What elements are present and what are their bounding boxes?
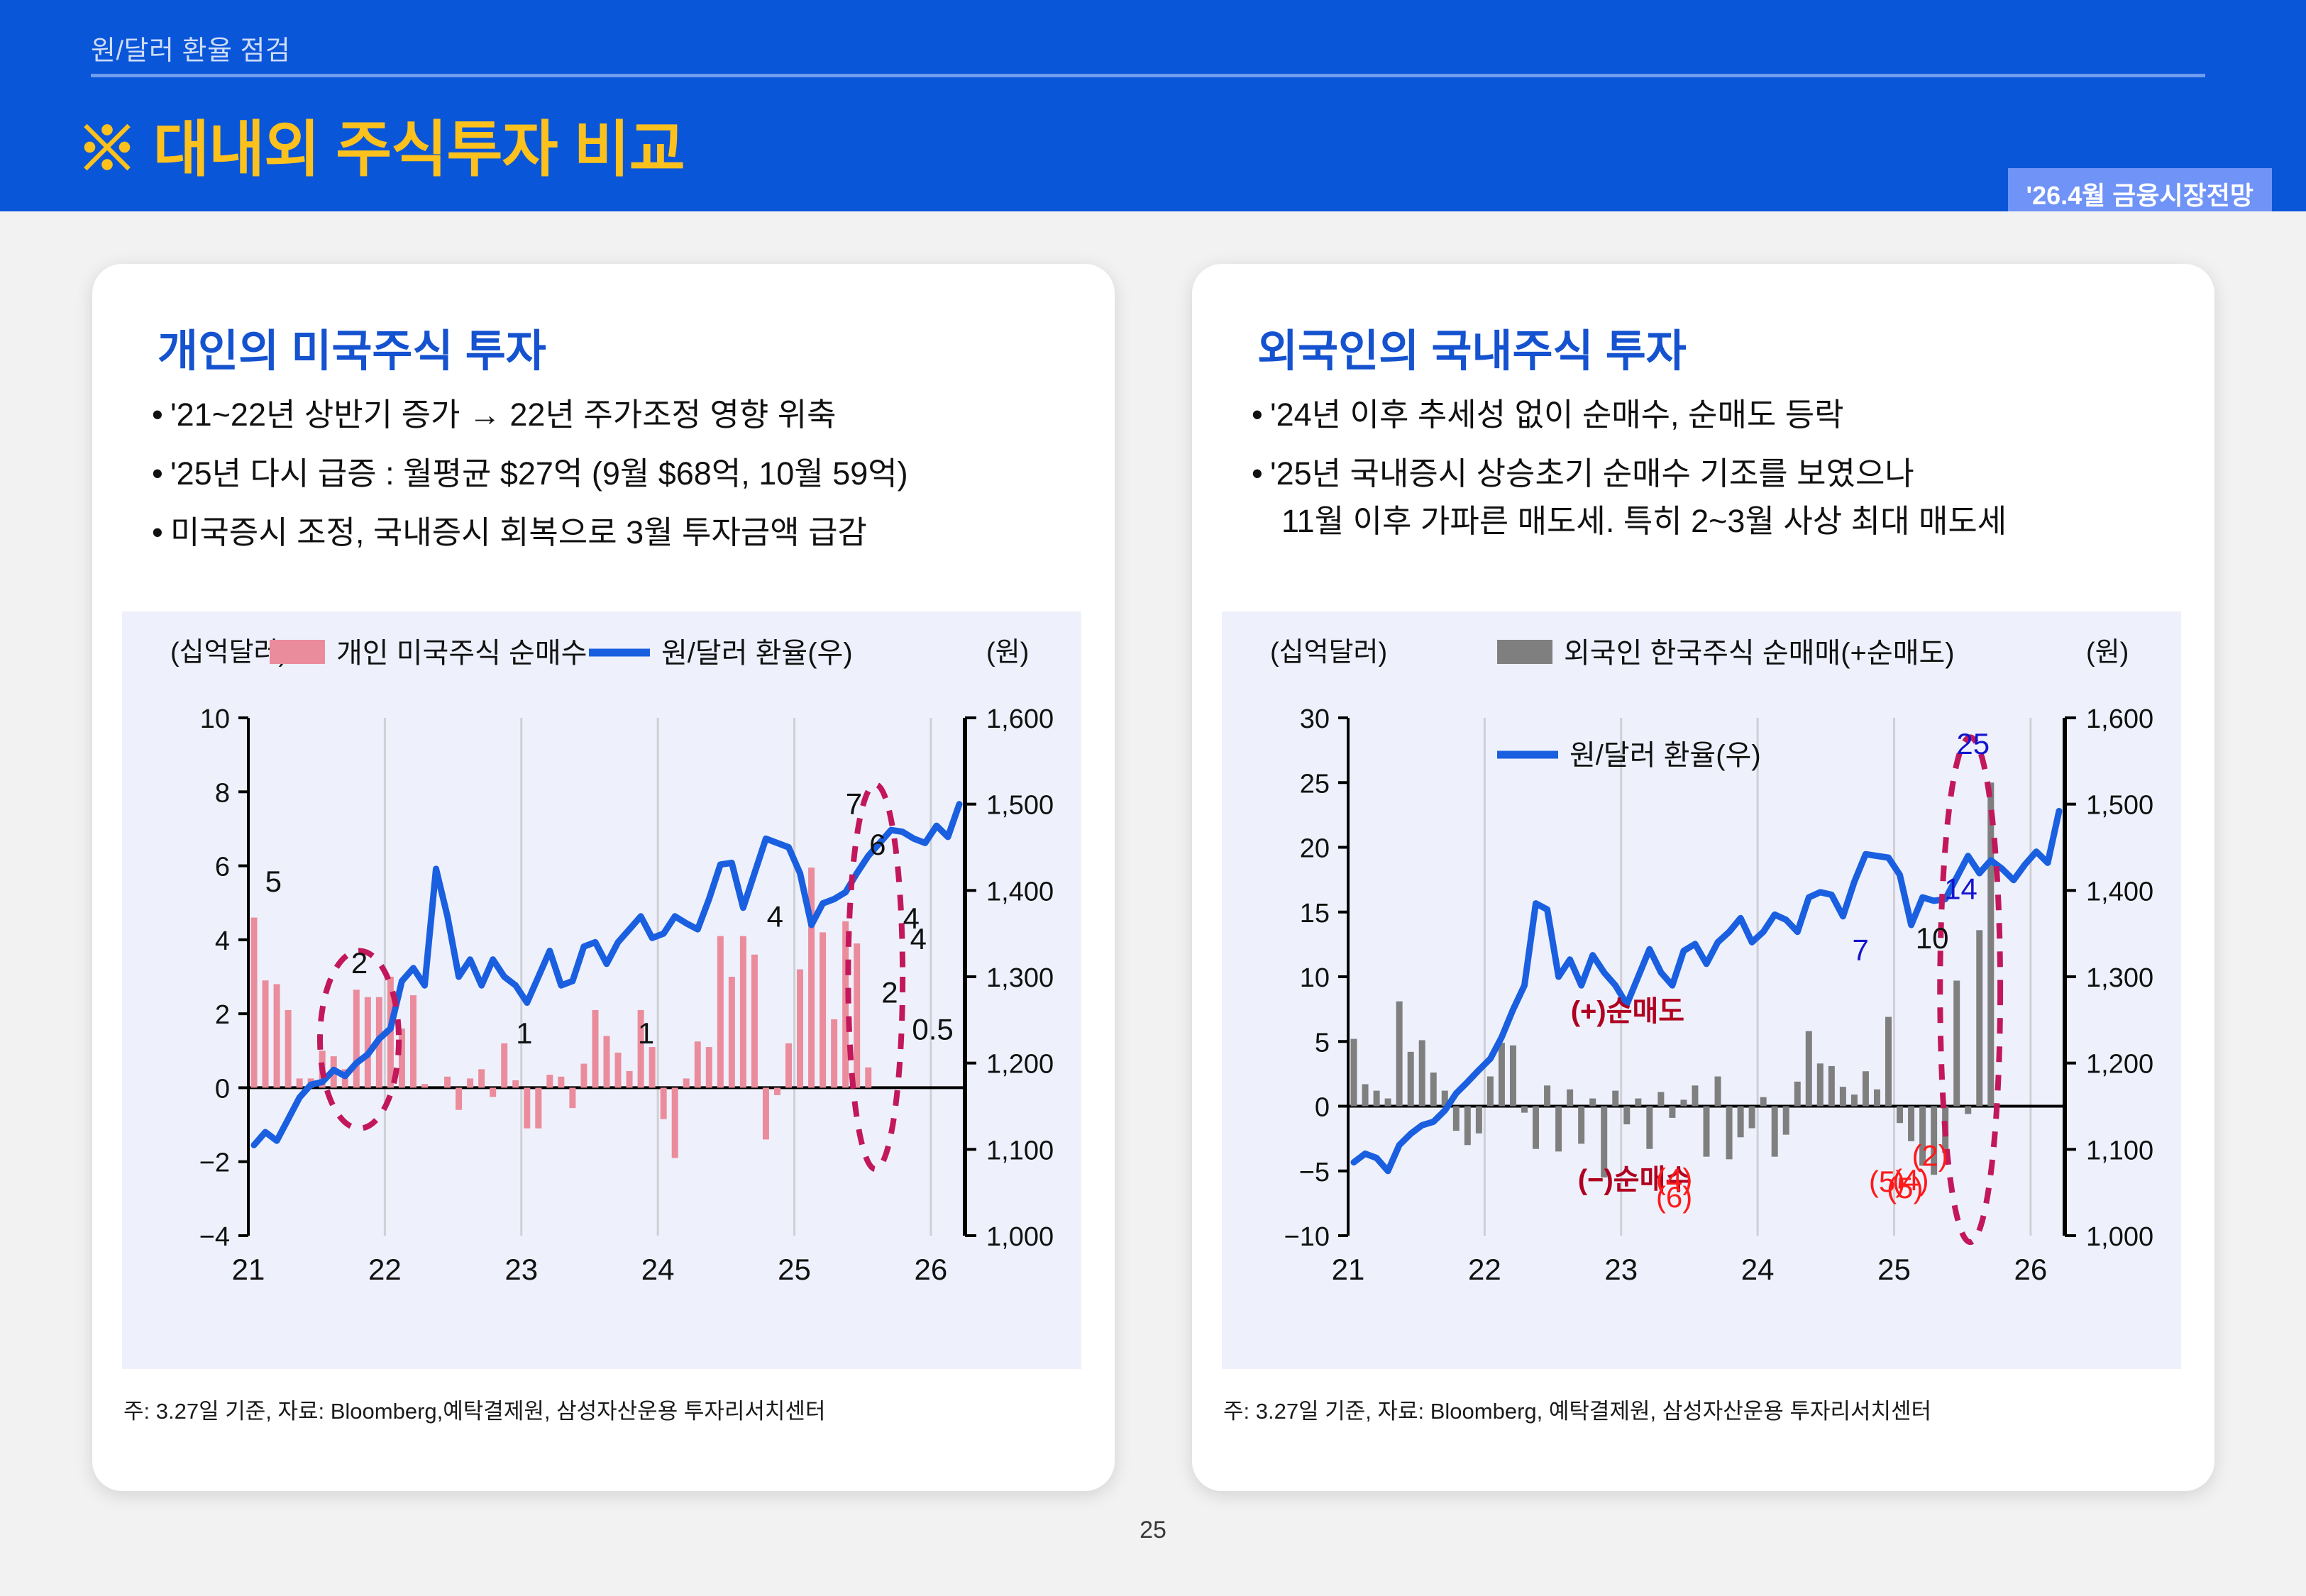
svg-text:22: 22 [1468, 1253, 1501, 1286]
svg-text:14: 14 [1944, 872, 1977, 906]
bullet-text: '21~22년 상반기 증가 → 22년 주가조정 영향 위축 [170, 397, 837, 433]
bullet-text-line2: 11월 이후 가파른 매도세. 특히 2~3월 사상 최대 매도세 [1252, 505, 2174, 537]
svg-text:−2: −2 [199, 1148, 230, 1178]
svg-text:(십억달러): (십억달러) [1270, 638, 1387, 667]
page-number: 25 [0, 1517, 2306, 1544]
chart-foreign-kr-stock: −10−50510152025301,0001,1001,2001,3001,4… [1222, 611, 2181, 1369]
chart-canvas-left: −4−202468101,0001,1001,2001,3001,4001,50… [122, 611, 1081, 1369]
svg-text:(원): (원) [2086, 638, 2129, 667]
svg-text:2: 2 [215, 1000, 230, 1030]
svg-text:−4: −4 [199, 1222, 230, 1252]
svg-text:24: 24 [1741, 1253, 1775, 1286]
panel-title-right: 외국인의 국내주식 투자 [1257, 315, 1687, 379]
svg-text:1,400: 1,400 [986, 877, 1054, 907]
svg-text:개인 미국주식 순매수: 개인 미국주식 순매수 [336, 638, 587, 669]
svg-text:4: 4 [215, 926, 230, 956]
svg-text:26: 26 [2014, 1253, 2048, 1286]
svg-text:5: 5 [1315, 1028, 1330, 1058]
bullet-text: 미국증시 조정, 국내증시 회복으로 3월 투자금액 급감 [170, 514, 867, 550]
svg-text:10: 10 [1300, 963, 1330, 993]
svg-text:25: 25 [778, 1253, 811, 1286]
svg-text:30: 30 [1300, 704, 1330, 734]
svg-text:(2): (2) [1911, 1138, 1948, 1172]
svg-text:1: 1 [638, 1016, 654, 1050]
panel-foreign-kr-stock: 외국인의 국내주식 투자 •'24년 이후 추세성 없이 순매수, 순매도 등락… [1192, 264, 2214, 1491]
svg-text:1,300: 1,300 [986, 963, 1054, 993]
svg-text:원/달러 환율(우): 원/달러 환율(우) [661, 638, 853, 669]
svg-text:2: 2 [881, 976, 898, 1009]
svg-text:1,000: 1,000 [2086, 1222, 2153, 1252]
svg-text:0.5: 0.5 [912, 1013, 953, 1046]
svg-text:6: 6 [215, 853, 230, 882]
bullet-text: '24년 이후 추세성 없이 순매수, 순매도 등락 [1270, 397, 1844, 433]
header-kicker: 원/달러 환율 점검 [91, 28, 290, 67]
chart-footnote-right: 주: 3.27일 기준, 자료: Bloomberg, 예탁결제원, 삼성자산운… [1223, 1393, 1931, 1425]
list-item: •'24년 이후 추세성 없이 순매수, 순매도 등락 [1252, 399, 2174, 431]
panel-individual-us-stock: 개인의 미국주식 투자 •'21~22년 상반기 증가 → 22년 주가조정 영… [92, 264, 1115, 1491]
list-item: •미국증시 조정, 국내증시 회복으로 3월 투자금액 급감 [152, 516, 1074, 548]
svg-text:5: 5 [265, 865, 282, 898]
svg-text:1,600: 1,600 [986, 704, 1054, 734]
svg-text:1,200: 1,200 [986, 1050, 1054, 1080]
slide-header: 원/달러 환율 점검 ※ 대내외 주식투자 비교 '26.4월 금융시장전망 [0, 0, 2306, 211]
svg-text:7: 7 [1852, 933, 1868, 966]
svg-text:23: 23 [1604, 1253, 1638, 1286]
svg-text:6: 6 [869, 828, 886, 861]
svg-text:22: 22 [368, 1253, 402, 1286]
bullet-text: '25년 국내증시 상승초기 순매수 기조를 보였으나 [1270, 455, 1914, 492]
svg-text:1: 1 [516, 1016, 532, 1050]
svg-text:1,500: 1,500 [986, 791, 1054, 821]
svg-text:24: 24 [641, 1253, 675, 1286]
chart-canvas-right: −10−50510152025301,0001,1001,2001,3001,4… [1222, 611, 2181, 1369]
svg-text:7: 7 [846, 787, 862, 821]
svg-text:26: 26 [915, 1253, 948, 1286]
svg-text:(+)순매도: (+)순매도 [1571, 996, 1684, 1027]
svg-text:1,600: 1,600 [2086, 704, 2153, 734]
svg-text:1,100: 1,100 [986, 1136, 1054, 1165]
svg-text:21: 21 [232, 1253, 265, 1286]
chart-individual-us-stock: −4−202468101,0001,1001,2001,3001,4001,50… [122, 611, 1081, 1369]
svg-text:0: 0 [215, 1074, 230, 1104]
svg-text:21: 21 [1332, 1253, 1365, 1286]
bullet-list-left: •'21~22년 상반기 증가 → 22년 주가조정 영향 위축 •'25년 다… [152, 399, 1074, 575]
svg-text:(6): (6) [1656, 1180, 1692, 1214]
svg-text:8: 8 [215, 778, 230, 808]
svg-text:(원): (원) [986, 638, 1029, 667]
page-title: ※ 대내외 주식투자 비교 [77, 99, 685, 188]
svg-text:2: 2 [351, 946, 368, 980]
svg-text:25: 25 [1956, 727, 1990, 760]
svg-text:0: 0 [1315, 1093, 1330, 1123]
list-item: •'21~22년 상반기 증가 → 22년 주가조정 영향 위축 [152, 399, 1074, 431]
svg-text:1,000: 1,000 [986, 1222, 1054, 1252]
svg-text:원/달러 환율(우): 원/달러 환율(우) [1569, 740, 1761, 771]
bullet-list-right: •'24년 이후 추세성 없이 순매수, 순매도 등락 •'25년 국내증시 상… [1252, 399, 2174, 564]
svg-text:10: 10 [1916, 921, 1949, 955]
svg-text:1,500: 1,500 [2086, 791, 2153, 821]
svg-text:25: 25 [1300, 769, 1330, 799]
header-divider [91, 74, 2205, 77]
svg-text:10: 10 [200, 704, 230, 734]
list-item: •'25년 국내증시 상승초기 순매수 기조를 보였으나11월 이후 가파른 매… [1252, 458, 2174, 537]
svg-text:외국인 한국주식 순매매(+순매도): 외국인 한국주식 순매매(+순매도) [1564, 638, 1955, 669]
svg-text:25: 25 [1877, 1253, 1911, 1286]
svg-text:1,300: 1,300 [2086, 963, 2153, 993]
svg-text:23: 23 [504, 1253, 538, 1286]
list-item: •'25년 다시 급증 : 월평균 $27억 (9월 $68억, 10월 59억… [152, 458, 1074, 489]
svg-text:1,200: 1,200 [2086, 1050, 2153, 1080]
svg-text:−5: −5 [1299, 1158, 1330, 1187]
panel-title-left: 개인의 미국주식 투자 [158, 315, 546, 379]
svg-text:4: 4 [910, 922, 927, 955]
chart-footnote-left: 주: 3.27일 기준, 자료: Bloomberg,예탁결제원, 삼성자산운용… [123, 1393, 825, 1425]
svg-text:1,400: 1,400 [2086, 877, 2153, 907]
svg-text:−10: −10 [1284, 1222, 1330, 1252]
bullet-text: '25년 다시 급증 : 월평균 $27억 (9월 $68억, 10월 59억) [170, 455, 908, 492]
svg-text:4: 4 [767, 900, 783, 933]
svg-text:15: 15 [1300, 899, 1330, 929]
svg-text:20: 20 [1300, 834, 1330, 864]
svg-text:1,100: 1,100 [2086, 1136, 2153, 1165]
